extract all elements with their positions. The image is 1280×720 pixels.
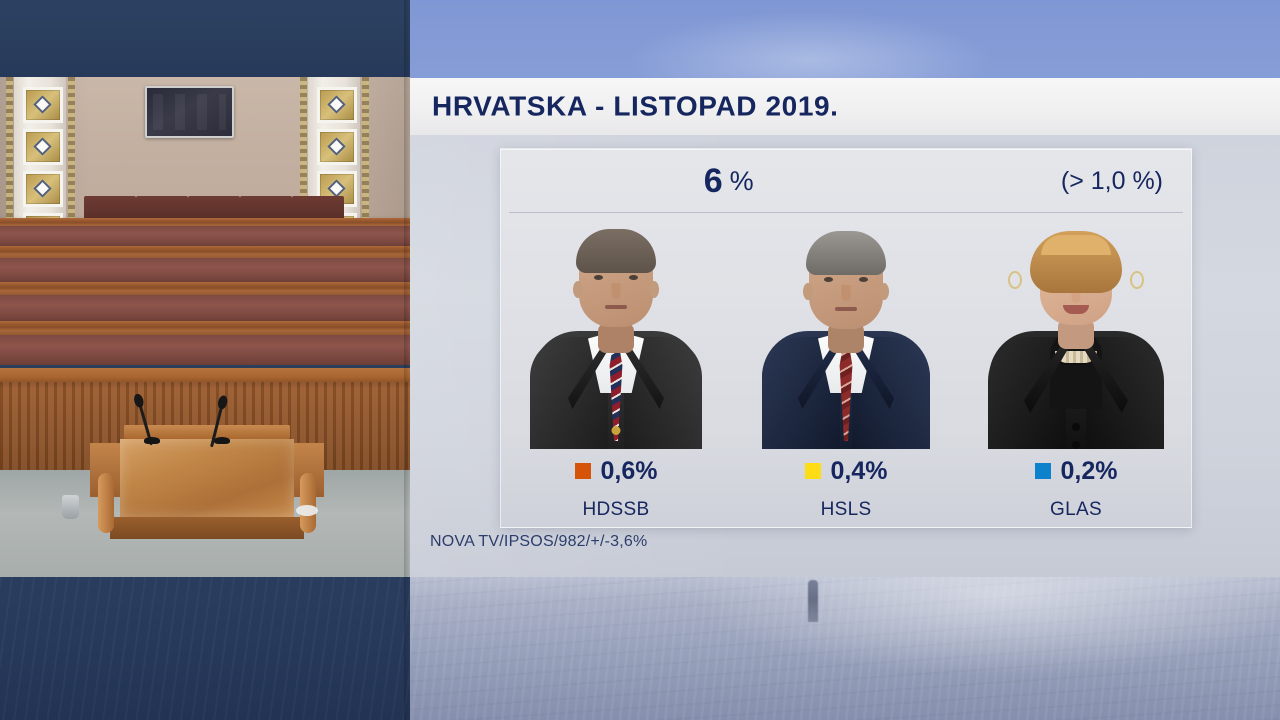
color-swatch-hdssb [575,463,591,479]
party-name-hsls: HSLS [821,493,872,527]
page-title: HRVATSKA - LISTOPAD 2019. [432,90,839,122]
rostrum-desktop [120,439,294,517]
party-column-hsls: 0,4% HSLS [731,213,961,527]
seat-row-leather [0,335,410,365]
floor-marker [296,505,318,516]
bollard-post [808,580,818,622]
party-column-glas: 0,2% GLAS [961,213,1191,527]
poll-results-card: 6 % (> 1,0 %) [500,148,1192,528]
color-swatch-glas [1035,463,1051,479]
card-header: 6 % (> 1,0 %) [501,149,1191,213]
stat-hsls: 0,4% [805,449,888,493]
stat-hdssb: 0,6% [575,449,658,493]
rostrum-rail-right [300,473,316,533]
water-glass [62,495,79,519]
party-column-hdssb: 0,6% HDSSB [501,213,731,527]
broadcast-screen: HRVATSKA - LISTOPAD 2019. 6 % (> 1,0 %) [0,0,1280,720]
threshold-note: (> 1,0 %) [1061,149,1163,213]
color-swatch-hsls [805,463,821,479]
party-columns: 0,6% HDSSB [501,213,1191,527]
poll-source-line: NOVA TV/IPSOS/982/+/-3,6% [430,533,647,551]
plaza-light-sheen [700,577,1280,720]
seat-row-leather [0,258,410,284]
parliament-chamber-photo [0,0,410,720]
value-hdssb: 0,6% [601,459,658,484]
party-name-glas: GLAS [1050,493,1102,527]
value-hsls: 0,4% [831,459,888,484]
party-name-hdssb: HDSSB [583,493,650,527]
portrait-hsls [731,217,961,449]
rostrum-rail-left [98,473,114,533]
threshold-number: 6 [704,162,723,201]
portrait-hdssb [501,217,731,449]
percent-symbol: % [730,166,754,197]
value-glas: 0,2% [1061,459,1118,484]
threshold-value: 6 % [501,149,956,213]
microphone-base-left [144,437,160,444]
rostrum-base [110,517,304,539]
wall-display-screen [145,86,234,138]
photo-bottom-navy-band [0,577,410,720]
photo-top-navy-band [0,0,410,77]
portrait-glas [961,217,1191,449]
seat-row-leather [0,295,410,323]
graphic-title-bar: HRVATSKA - LISTOPAD 2019. [410,78,1280,135]
stat-glas: 0,2% [1035,449,1118,493]
seat-row-leather [0,226,410,248]
microphone-base-right [214,437,230,444]
speakers-rostrum [92,425,322,565]
